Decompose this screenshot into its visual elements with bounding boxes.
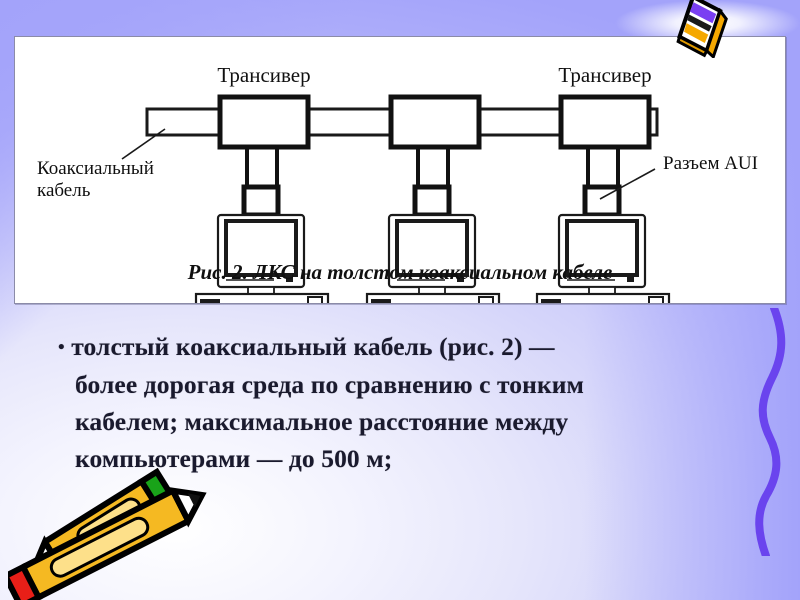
aui-leader-line (600, 169, 655, 199)
purple-squiggle-decoration (744, 308, 794, 556)
bullet-glyph: • (58, 337, 65, 358)
bullet-line-2: более дорогая среда по сравнению с тонки… (58, 366, 730, 403)
label-transceiver-right: Трансивер (558, 63, 651, 87)
bullet-line-3: кабелем; максимальное расстояние между (58, 403, 730, 440)
label-transceiver-left: Трансивер (217, 63, 310, 87)
transceiver-2 (391, 97, 479, 147)
label-coax-line1: Коаксиальный (37, 158, 154, 179)
transceiver-1 (220, 97, 308, 147)
label-coax-line2: кабель (37, 180, 91, 201)
drop-cable-1 (247, 147, 277, 189)
workstation-1 (196, 187, 328, 303)
figure-panel: Трансивер Трансивер Коаксиальный кабель … (14, 36, 786, 304)
label-aui-connector: Разъем AUI (663, 153, 758, 174)
eraser-icon (665, 0, 735, 58)
workstation-2 (367, 187, 499, 303)
network-diagram: Трансивер Трансивер Коаксиальный кабель … (15, 37, 785, 303)
figure-caption: Рис. 2. ЛКС на толстом коаксиальном кабе… (187, 260, 613, 284)
workstation-3 (537, 187, 669, 303)
drop-cable-2 (418, 147, 448, 189)
coax-leader-line (122, 129, 165, 159)
crossed-pencils-icon (8, 468, 208, 600)
bullet-paragraph: • толстый коаксиальный кабель (рис. 2) —… (58, 328, 730, 477)
transceiver-3 (561, 97, 649, 147)
bullet-line-1: толстый коаксиальный кабель (рис. 2) — (71, 332, 554, 361)
drop-cable-3 (588, 147, 618, 189)
